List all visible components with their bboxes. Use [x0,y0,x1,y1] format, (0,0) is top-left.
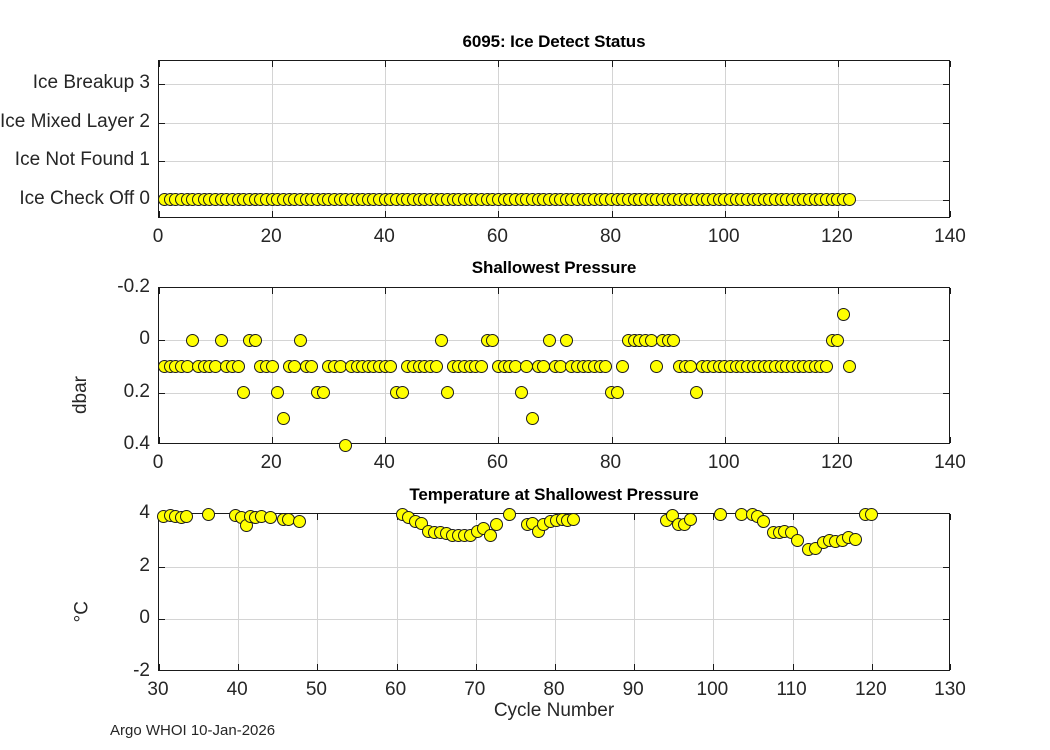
panel-title-ice-detect-status: 6095: Ice Detect Status [158,32,950,52]
x-axis-tick [272,288,273,294]
gridline-vertical [713,514,714,670]
data-point-marker [490,518,503,531]
argo-float-figure: 6095: Ice Detect Status Shallowest Press… [0,0,1050,750]
gridline-vertical [397,514,398,670]
data-point-marker [202,508,215,521]
x-axis-tick-label: 0 [153,226,164,248]
data-point-marker [560,334,573,347]
panel-title-shallowest-pressure: Shallowest Pressure [158,258,950,278]
x-axis-tick-label: 50 [306,679,327,701]
data-point-marker [186,334,199,347]
x-axis-tick [612,61,613,67]
data-point-marker [264,511,277,524]
x-axis-tick [838,61,839,67]
data-point-marker [843,360,856,373]
x-axis-tick-label: 140 [934,226,966,248]
y-axis-tick-label: 0.2 [0,381,150,403]
x-axis-tick [793,664,794,670]
y-axis-tick-label: Ice Not Found 1 [0,149,150,171]
x-axis-tick-label: 30 [147,679,168,701]
x-axis-tick [838,288,839,294]
x-axis-tick [793,514,794,520]
x-axis-tick [498,61,499,67]
data-point-marker [515,386,528,399]
data-point-marker [430,360,443,373]
x-axis-tick [498,211,499,217]
x-axis-tick [385,211,386,217]
y-axis-tick [943,340,949,341]
data-point-marker [599,360,612,373]
x-axis-tick-label: 40 [227,679,248,701]
x-axis-tick [159,61,160,67]
x-axis-tick [612,288,613,294]
gridline-horizontal [159,123,949,124]
x-axis-tick-label: 130 [934,679,966,701]
data-point-marker [384,360,397,373]
data-point-marker [567,513,580,526]
x-axis-tick [159,664,160,670]
data-point-marker [714,508,727,521]
x-axis-tick-label: 40 [374,452,395,474]
data-point-marker [266,360,279,373]
x-axis-tick [385,288,386,294]
x-axis-tick [634,664,635,670]
y-axis-tick [943,200,949,201]
gridline-horizontal [159,619,949,620]
x-axis-tick [612,437,613,443]
x-axis-tick [838,211,839,217]
data-point-marker [271,386,284,399]
y-axis-tick-label: -0.2 [0,276,150,298]
data-point-marker [317,386,330,399]
x-axis-tick [159,211,160,217]
y-axis-tick-label: Ice Mixed Layer 2 [0,111,150,133]
data-point-marker [237,386,250,399]
data-point-marker [294,334,307,347]
data-point-marker [232,360,245,373]
data-point-marker [486,334,499,347]
data-point-marker [180,510,193,523]
y-axis-tick [943,567,949,568]
x-axis-tick [272,211,273,217]
gridline-vertical [317,514,318,670]
data-point-marker [293,515,306,528]
x-axis-tick-label: 140 [934,452,966,474]
x-axis-tick [872,664,873,670]
x-axis-tick [950,61,951,67]
x-axis-tick [159,288,160,294]
x-axis-tick [713,664,714,670]
data-point-marker [503,508,516,521]
x-axis-tick-label: 20 [261,452,282,474]
y-axis-tick [159,340,165,341]
x-axis-tick-label: 60 [487,226,508,248]
data-point-marker [757,515,770,528]
data-point-marker [865,508,878,521]
x-axis-tick-label: 80 [543,679,564,701]
x-axis-tick-label: 90 [623,679,644,701]
y-axis-tick [943,84,949,85]
panel-title-temperature: Temperature at Shallowest Pressure [158,485,950,505]
data-point-marker [650,360,663,373]
data-point-marker [249,334,262,347]
gridline-vertical [238,514,239,670]
plot-area-ice-detect-status [158,60,950,218]
data-point-marker [616,360,629,373]
y-axis-tick-label: -2 [0,660,150,682]
x-axis-tick [555,664,556,670]
x-axis-tick-label: 100 [697,679,729,701]
y-axis-tick-label: 0 [0,607,150,629]
x-axis-tick-label: 80 [600,226,621,248]
data-point-marker [475,360,488,373]
x-axis-tick-label: 80 [600,452,621,474]
data-point-marker [791,534,804,547]
x-axis-tick [476,664,477,670]
data-point-marker [215,334,228,347]
data-point-marker [543,334,556,347]
x-axis-tick [950,288,951,294]
x-axis-tick [397,664,398,670]
y-axis-tick-label: 0 [0,328,150,350]
gridline-horizontal [159,567,949,568]
x-axis-tick-label: 110 [776,679,806,701]
x-axis-tick-label: 60 [385,679,406,701]
data-point-marker [339,439,352,452]
x-axis-tick [634,514,635,520]
x-axis-tick-label: 60 [487,452,508,474]
x-axis-tick-label: 70 [464,679,485,701]
x-axis-tick [498,437,499,443]
gridline-vertical [555,514,556,670]
data-point-marker [441,386,454,399]
y-axis-tick [943,619,949,620]
y-axis-tick-label: 2 [0,555,150,577]
data-point-marker [277,412,290,425]
y-axis-tick [159,393,165,394]
x-axis-tick [159,437,160,443]
data-point-marker [849,533,862,546]
x-axis-tick [238,664,239,670]
data-point-marker [435,334,448,347]
x-axis-tick-label: 20 [261,226,282,248]
x-axis-tick [950,437,951,443]
data-point-marker [526,412,539,425]
x-axis-tick-label: 0 [153,452,164,474]
x-axis-tick-label: 100 [708,452,740,474]
x-axis-tick [725,288,726,294]
gridline-vertical [872,514,873,670]
data-point-marker [690,386,703,399]
gridline-vertical [634,514,635,670]
x-axis-tick [498,288,499,294]
y-axis-tick-label: Ice Check Off 0 [0,188,150,210]
x-axis-label-cycle-number: Cycle Number [494,700,614,722]
y-axis-tick [159,161,165,162]
x-axis-tick-label: 100 [708,226,740,248]
x-axis-tick [950,211,951,217]
plot-area-shallowest-pressure [158,287,950,444]
x-axis-tick [476,514,477,520]
x-axis-tick [317,664,318,670]
x-axis-tick-label: 40 [374,226,395,248]
data-point-marker [837,308,850,321]
x-axis-tick [272,61,273,67]
x-axis-tick [725,437,726,443]
y-axis-tick [943,393,949,394]
x-axis-tick [612,211,613,217]
gridline-horizontal [159,84,949,85]
plot-area-temperature [158,513,950,671]
x-axis-tick [838,437,839,443]
y-axis-tick [159,619,165,620]
data-point-marker [684,513,697,526]
figure-footer-credit: Argo WHOI 10-Jan-2026 [110,722,275,739]
x-axis-tick-label: 120 [821,226,853,248]
y-axis-tick-label: Ice Breakup 3 [0,72,150,94]
data-point-marker [611,386,624,399]
x-axis-tick [725,61,726,67]
data-point-marker [305,360,318,373]
y-axis-tick [943,161,949,162]
data-point-marker [820,360,833,373]
y-axis-tick [159,123,165,124]
x-axis-tick [950,514,951,520]
y-axis-tick [943,123,949,124]
y-axis-tick [159,567,165,568]
x-axis-tick-label: 120 [821,452,853,474]
x-axis-tick [317,514,318,520]
x-axis-tick [385,61,386,67]
x-axis-tick-label: 120 [855,679,887,701]
y-axis-tick-label: 0.4 [0,433,150,455]
data-point-marker [667,334,680,347]
x-axis-tick [950,664,951,670]
x-axis-tick [725,211,726,217]
data-point-marker [843,193,856,206]
x-axis-tick [272,437,273,443]
gridline-horizontal [159,161,949,162]
data-point-marker [831,334,844,347]
data-point-marker [396,386,409,399]
y-axis-tick [159,84,165,85]
y-axis-tick-label: 4 [0,502,150,524]
x-axis-tick [385,437,386,443]
